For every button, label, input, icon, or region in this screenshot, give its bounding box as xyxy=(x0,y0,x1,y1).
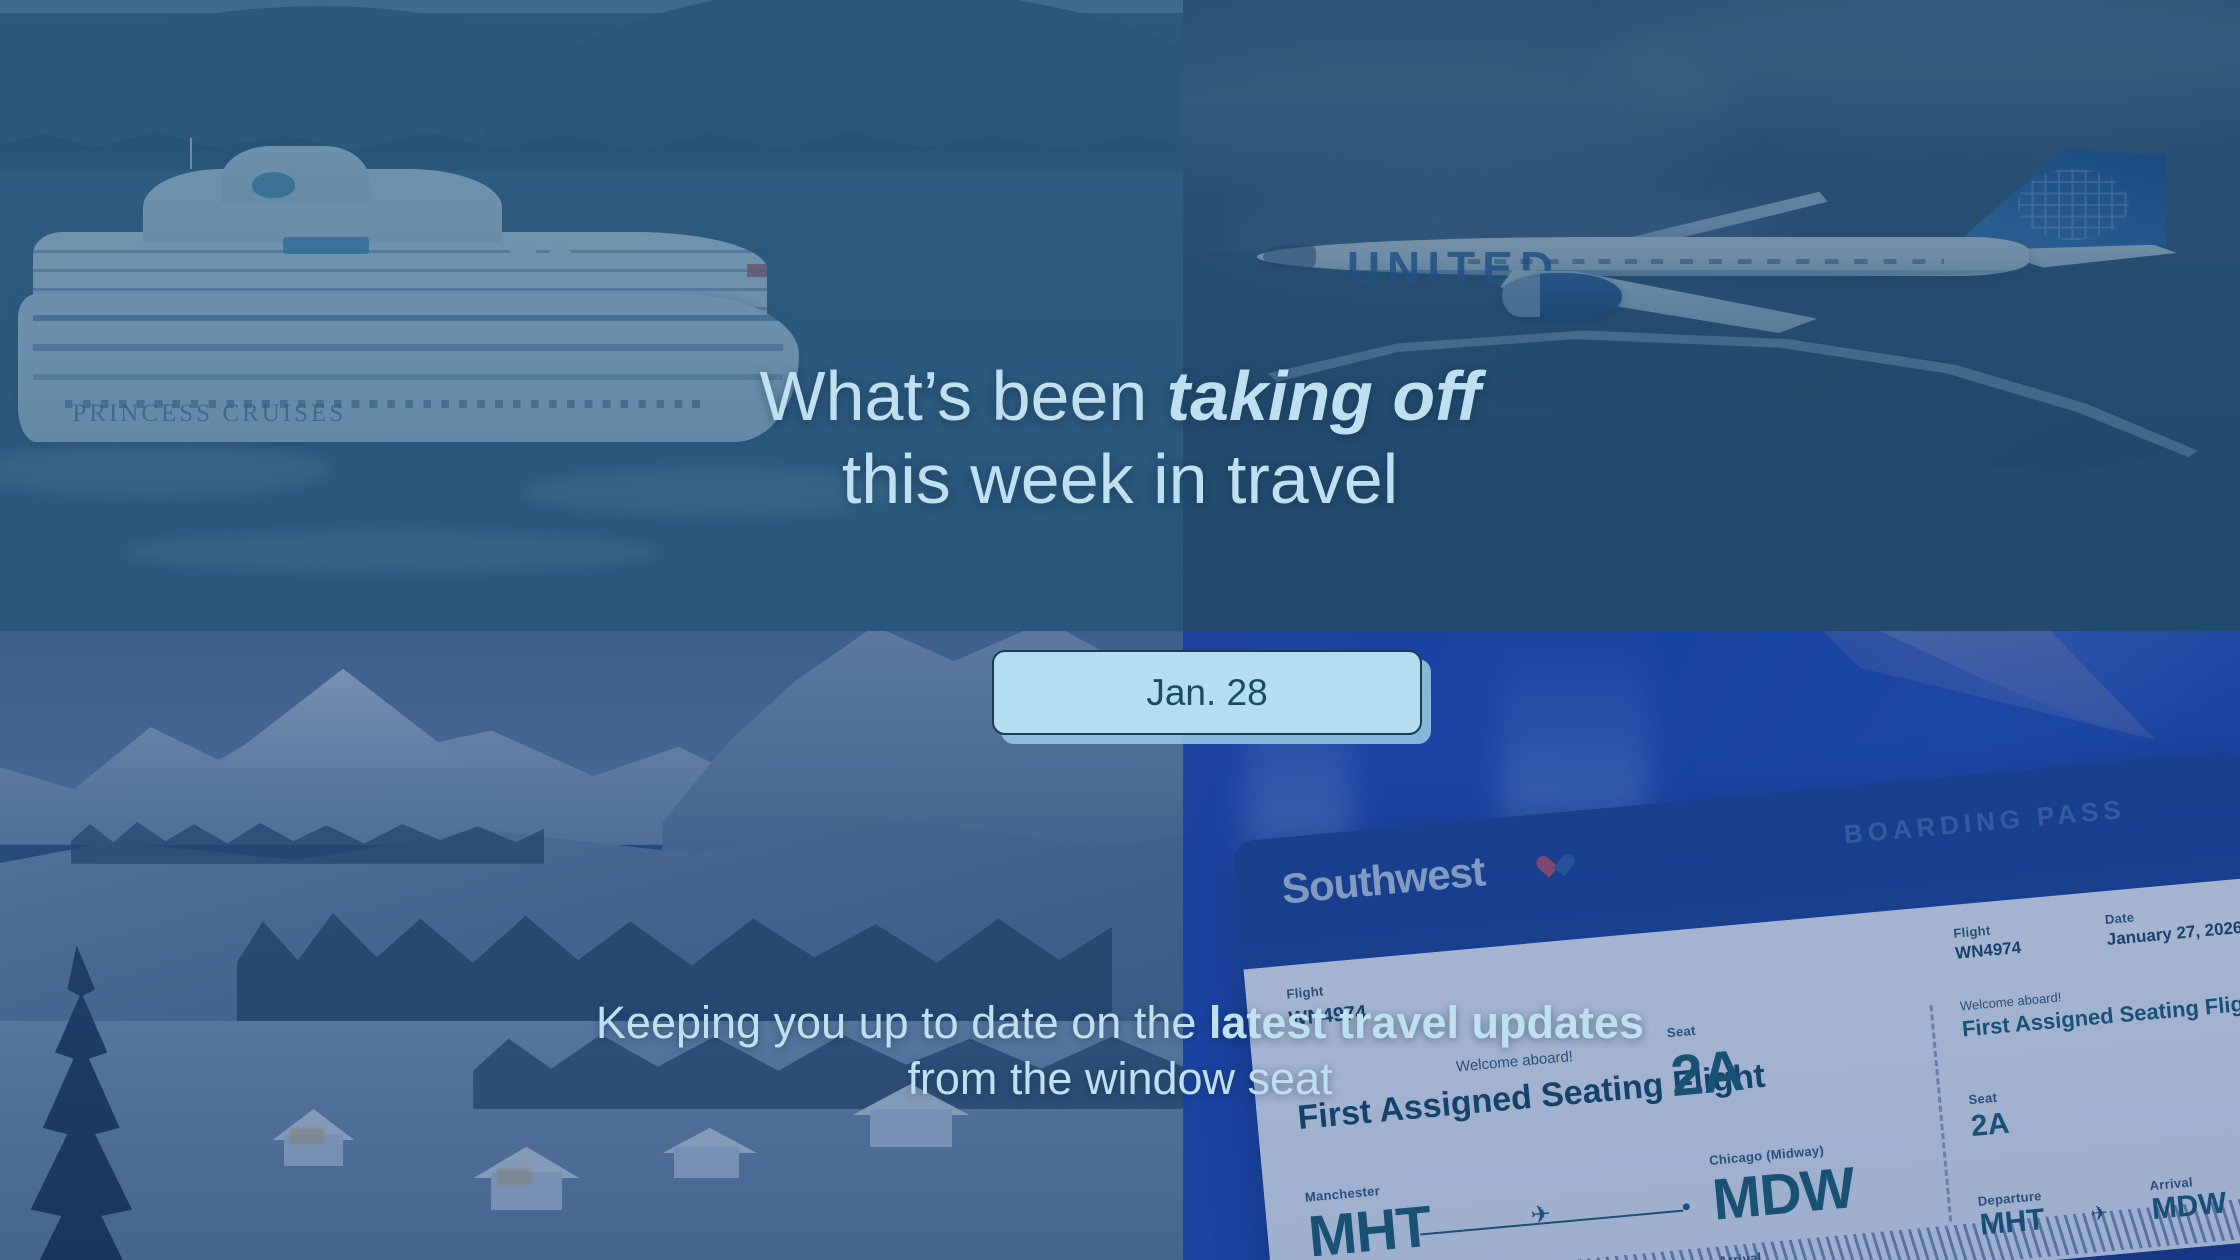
travel-newsletter-graphic: PRINCESS CRUISES UNITED xyxy=(0,0,2240,1260)
subtitle-line-1-text: Keeping you up to date on the xyxy=(596,997,1209,1048)
headline-line-2: this week in travel xyxy=(0,438,2240,521)
text-overlay: What’s been taking off this week in trav… xyxy=(0,0,2240,1260)
subtitle-line-2: from the window seat xyxy=(0,1051,2240,1107)
subtitle-line-1: Keeping you up to date on the latest tra… xyxy=(0,995,2240,1051)
headline-line-1-text: What’s been xyxy=(760,357,1167,435)
headline-emphasis: taking off xyxy=(1167,357,1481,435)
subtitle-emphasis: latest travel updates xyxy=(1209,997,1644,1048)
headline-line-1: What’s been taking off xyxy=(0,355,2240,438)
page-title: What’s been taking off this week in trav… xyxy=(0,355,2240,520)
subtitle: Keeping you up to date on the latest tra… xyxy=(0,995,2240,1107)
date-badge-label: Jan. 28 xyxy=(1146,672,1267,714)
date-badge[interactable]: Jan. 28 xyxy=(992,650,1422,735)
